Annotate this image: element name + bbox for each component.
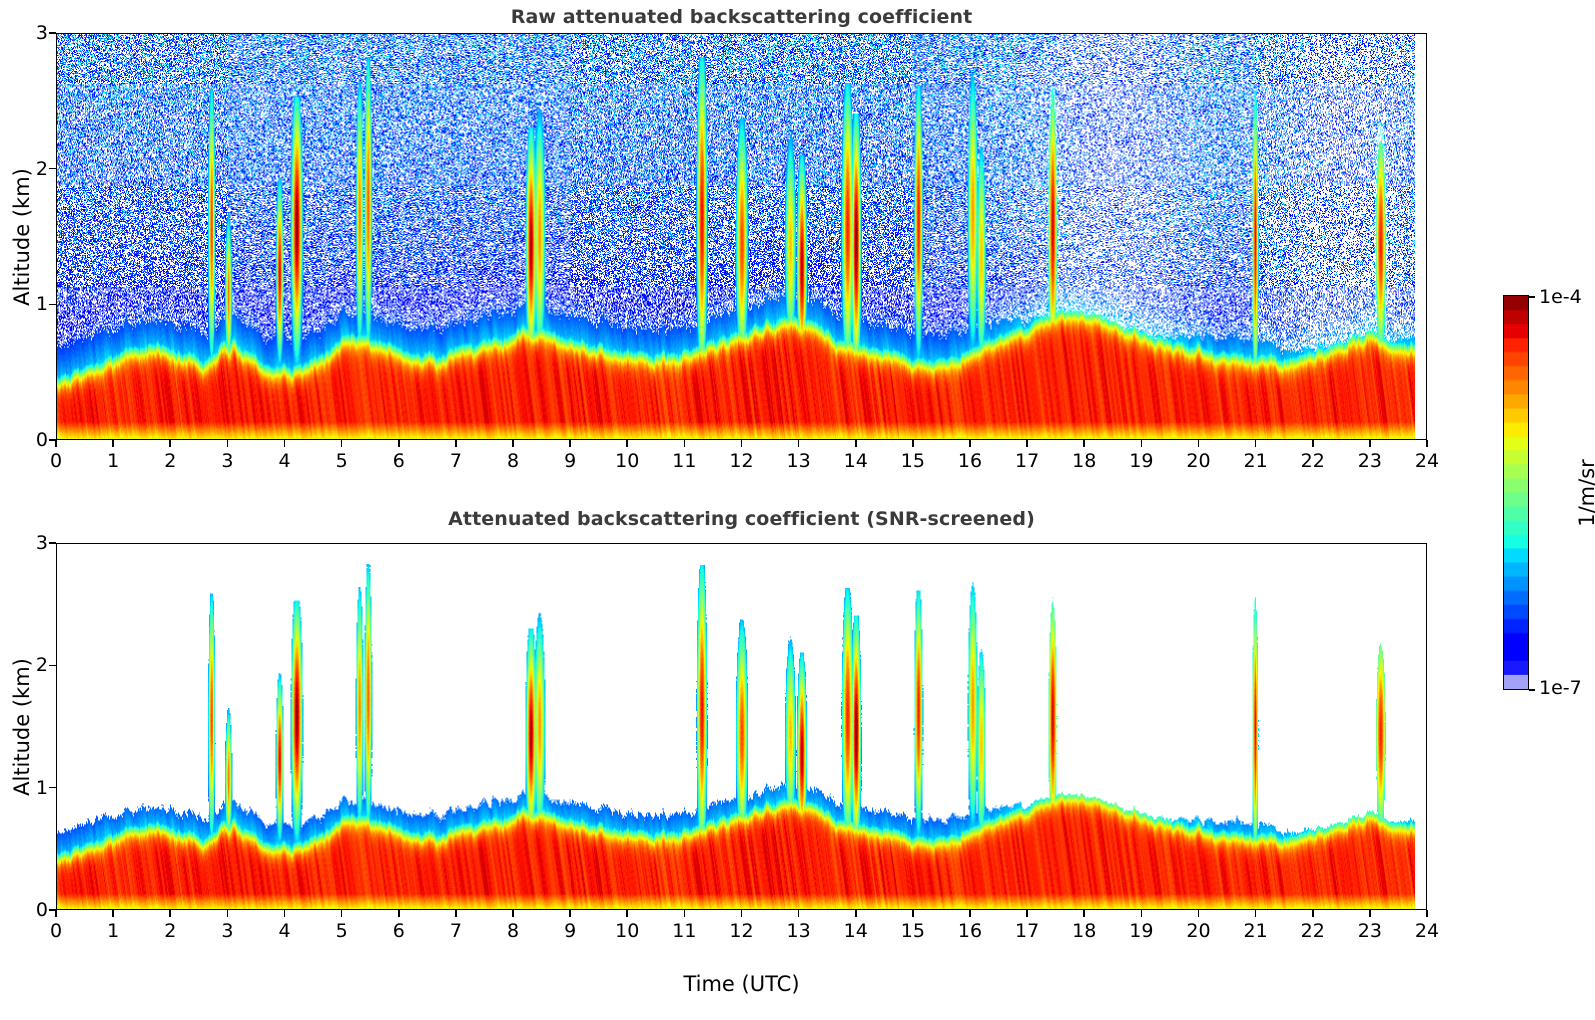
x-tick bbox=[512, 910, 514, 917]
raw-backscatter-heatmap bbox=[56, 33, 1427, 440]
x-tick bbox=[912, 910, 914, 917]
x-tick bbox=[1083, 440, 1085, 447]
x-tick-label: 20 bbox=[1186, 920, 1210, 942]
y-tick bbox=[49, 439, 56, 441]
y-tick bbox=[49, 168, 56, 170]
x-tick-label: 18 bbox=[1072, 450, 1096, 472]
x-tick-label: 2 bbox=[164, 920, 176, 942]
x-tick-label: 3 bbox=[221, 450, 233, 472]
x-tick bbox=[341, 440, 343, 447]
x-tick-label: 10 bbox=[615, 450, 639, 472]
x-axis-label: Time (UTC) bbox=[683, 972, 799, 996]
x-tick bbox=[855, 440, 857, 447]
x-tick-label: 10 bbox=[615, 920, 639, 942]
x-tick bbox=[1255, 440, 1257, 447]
colorbar bbox=[1503, 295, 1529, 690]
x-tick bbox=[741, 910, 743, 917]
y-tick bbox=[49, 665, 56, 667]
x-tick-label: 5 bbox=[336, 920, 348, 942]
x-tick bbox=[455, 440, 457, 447]
x-tick-label: 17 bbox=[1015, 450, 1039, 472]
x-tick-label: 8 bbox=[507, 450, 519, 472]
x-tick-label: 16 bbox=[958, 920, 982, 942]
x-tick-label: 14 bbox=[844, 920, 868, 942]
x-tick bbox=[684, 440, 686, 447]
x-tick-label: 18 bbox=[1072, 920, 1096, 942]
y-tick-label: 0 bbox=[16, 429, 48, 451]
x-tick bbox=[626, 910, 628, 917]
colorbar-canvas bbox=[1504, 296, 1528, 689]
figure-root: Raw attenuated backscattering coefficien… bbox=[0, 0, 1595, 1020]
y-tick-label: 2 bbox=[16, 158, 48, 180]
x-tick-label: 3 bbox=[221, 920, 233, 942]
y-tick-label: 0 bbox=[16, 899, 48, 921]
x-tick bbox=[1141, 440, 1143, 447]
x-tick bbox=[1312, 910, 1314, 917]
screened-panel-y-axis-label: Altitude (km) bbox=[10, 658, 34, 796]
screened-backscatter-heatmap bbox=[56, 543, 1427, 910]
x-tick bbox=[227, 440, 229, 447]
x-tick-label: 23 bbox=[1358, 450, 1382, 472]
x-tick-label: 20 bbox=[1186, 450, 1210, 472]
x-tick-label: 7 bbox=[450, 450, 462, 472]
x-tick-label: 21 bbox=[1244, 450, 1268, 472]
x-tick-label: 1 bbox=[107, 450, 119, 472]
panel-title-raw: Raw attenuated backscattering coefficien… bbox=[56, 6, 1427, 28]
x-tick-label: 24 bbox=[1415, 450, 1439, 472]
x-tick bbox=[1426, 440, 1428, 447]
x-tick-label: 9 bbox=[564, 920, 576, 942]
x-tick bbox=[398, 910, 400, 917]
x-tick-label: 2 bbox=[164, 450, 176, 472]
x-tick bbox=[1198, 440, 1200, 447]
x-tick bbox=[1026, 440, 1028, 447]
x-tick-label: 11 bbox=[672, 920, 696, 942]
x-tick bbox=[112, 440, 114, 447]
x-tick bbox=[855, 910, 857, 917]
x-tick-label: 0 bbox=[50, 450, 62, 472]
raw-panel-y-axis-label: Altitude (km) bbox=[10, 168, 34, 306]
x-tick-label: 9 bbox=[564, 450, 576, 472]
x-tick bbox=[1255, 910, 1257, 917]
x-tick bbox=[626, 440, 628, 447]
raw-heatmap-canvas bbox=[57, 34, 1426, 439]
y-tick-label: 3 bbox=[16, 22, 48, 44]
x-tick-label: 4 bbox=[278, 450, 290, 472]
x-tick bbox=[569, 440, 571, 447]
x-tick-label: 14 bbox=[844, 450, 868, 472]
x-tick bbox=[341, 910, 343, 917]
x-tick bbox=[55, 440, 57, 447]
x-tick bbox=[284, 910, 286, 917]
x-tick-label: 0 bbox=[50, 920, 62, 942]
x-tick bbox=[55, 910, 57, 917]
x-tick-label: 8 bbox=[507, 920, 519, 942]
x-tick-label: 5 bbox=[336, 450, 348, 472]
x-tick-label: 19 bbox=[1129, 920, 1153, 942]
colorbar-max-label: 1e-4 bbox=[1539, 286, 1582, 308]
colorbar-unit-label: 1/m/sr bbox=[1575, 459, 1595, 527]
x-tick-label: 19 bbox=[1129, 450, 1153, 472]
x-tick bbox=[398, 440, 400, 447]
x-tick bbox=[741, 440, 743, 447]
x-tick bbox=[1369, 910, 1371, 917]
y-tick-label: 1 bbox=[16, 293, 48, 315]
x-tick-label: 22 bbox=[1301, 920, 1325, 942]
x-tick-label: 12 bbox=[729, 920, 753, 942]
x-tick bbox=[1198, 910, 1200, 917]
x-tick-label: 6 bbox=[393, 450, 405, 472]
x-tick-label: 21 bbox=[1244, 920, 1268, 942]
x-tick bbox=[1426, 910, 1428, 917]
x-tick-label: 13 bbox=[787, 920, 811, 942]
x-tick bbox=[969, 440, 971, 447]
y-tick bbox=[49, 787, 56, 789]
x-tick bbox=[1369, 440, 1371, 447]
x-tick bbox=[1083, 910, 1085, 917]
x-tick bbox=[1141, 910, 1143, 917]
x-tick bbox=[169, 440, 171, 447]
x-tick-label: 11 bbox=[672, 450, 696, 472]
x-tick bbox=[169, 910, 171, 917]
panel-title-screened: Attenuated backscattering coefficient (S… bbox=[56, 508, 1427, 530]
y-tick bbox=[49, 304, 56, 306]
x-tick-label: 13 bbox=[787, 450, 811, 472]
x-tick-label: 17 bbox=[1015, 920, 1039, 942]
x-tick bbox=[798, 910, 800, 917]
x-tick bbox=[112, 910, 114, 917]
colorbar-min-label: 1e-7 bbox=[1539, 677, 1582, 699]
y-tick bbox=[49, 542, 56, 544]
x-tick bbox=[684, 910, 686, 917]
colorbar-tick bbox=[1529, 296, 1535, 298]
x-tick bbox=[798, 440, 800, 447]
x-tick bbox=[284, 440, 286, 447]
y-tick-label: 1 bbox=[16, 777, 48, 799]
x-tick bbox=[455, 910, 457, 917]
screened-heatmap-canvas bbox=[57, 544, 1426, 909]
x-tick bbox=[227, 910, 229, 917]
y-tick bbox=[49, 909, 56, 911]
x-tick-label: 12 bbox=[729, 450, 753, 472]
x-tick-label: 7 bbox=[450, 920, 462, 942]
x-tick-label: 1 bbox=[107, 920, 119, 942]
x-tick-label: 15 bbox=[901, 450, 925, 472]
x-tick bbox=[912, 440, 914, 447]
y-tick-label: 3 bbox=[16, 532, 48, 554]
x-tick bbox=[569, 910, 571, 917]
x-tick bbox=[1026, 910, 1028, 917]
colorbar-tick bbox=[1529, 689, 1535, 691]
x-tick-label: 4 bbox=[278, 920, 290, 942]
x-tick bbox=[512, 440, 514, 447]
x-tick-label: 15 bbox=[901, 920, 925, 942]
x-tick-label: 22 bbox=[1301, 450, 1325, 472]
x-tick bbox=[969, 910, 971, 917]
x-tick bbox=[1312, 440, 1314, 447]
x-tick-label: 23 bbox=[1358, 920, 1382, 942]
x-tick-label: 16 bbox=[958, 450, 982, 472]
y-tick bbox=[49, 32, 56, 34]
x-tick-label: 6 bbox=[393, 920, 405, 942]
x-tick-label: 24 bbox=[1415, 920, 1439, 942]
y-tick-label: 2 bbox=[16, 654, 48, 676]
